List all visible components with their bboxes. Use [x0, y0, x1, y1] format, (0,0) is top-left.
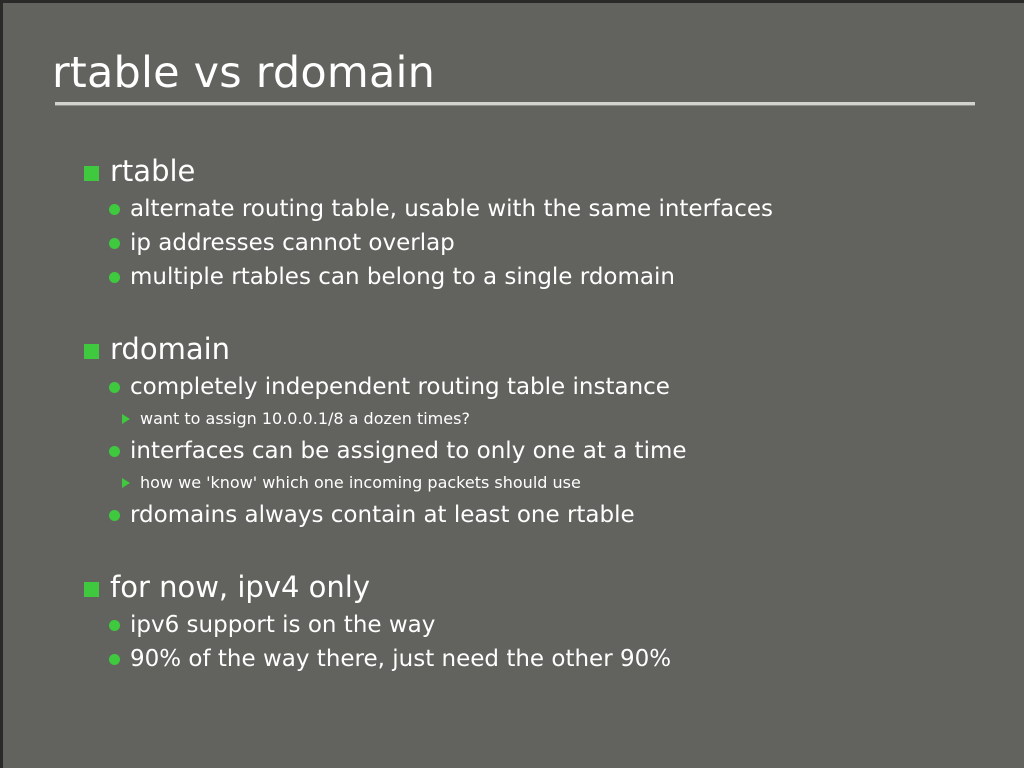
bullet-group-for-now-ipv4-only: for now, ipv4 onlyipv6 support is on the… [3, 567, 1024, 676]
bullet-level2-ipv6-support-is-on-the-way[interactable]: ipv6 support is on the way [3, 608, 1024, 642]
bullet-label: multiple rtables can belong to a single … [130, 260, 675, 294]
title-divider [55, 102, 975, 106]
triangle-bullet-icon [122, 414, 130, 424]
bullet-level2-rdomains-always-contain-at-least-one-rtabl[interactable]: rdomains always contain at least one rta… [3, 498, 1024, 532]
bullet-level1-for-now-ipv4-only[interactable]: for now, ipv4 only [3, 567, 1024, 608]
bullet-label: 90% of the way there, just need the othe… [130, 642, 671, 676]
bullet-label: interfaces can be assigned to only one a… [130, 434, 687, 468]
bullet-label: ip addresses cannot overlap [130, 226, 455, 260]
bullet-label: want to assign 10.0.0.1/8 a dozen times? [140, 404, 470, 434]
circle-bullet-icon [109, 654, 120, 665]
circle-bullet-icon [109, 510, 120, 521]
bullet-level2-multiple-rtables-can-belong-to-a-single-rd[interactable]: multiple rtables can belong to a single … [3, 260, 1024, 294]
bullet-label: rdomain [110, 329, 230, 370]
triangle-bullet-icon [122, 478, 130, 488]
bullet-level1-rtable[interactable]: rtable [3, 151, 1024, 192]
bullet-level3-how-we-know-which-one-incoming-packets-sho[interactable]: how we 'know' which one incoming packets… [3, 468, 1024, 498]
circle-bullet-icon [109, 238, 120, 249]
circle-bullet-icon [109, 382, 120, 393]
bullet-label: how we 'know' which one incoming packets… [140, 468, 581, 498]
bullet-label: for now, ipv4 only [110, 567, 370, 608]
square-bullet-icon [84, 582, 99, 597]
bullet-level2-completely-independent-routing-table-insta[interactable]: completely independent routing table ins… [3, 370, 1024, 404]
circle-bullet-icon [109, 620, 120, 631]
circle-bullet-icon [109, 272, 120, 283]
bullet-label: ipv6 support is on the way [130, 608, 435, 642]
bullet-level2-90-of-the-way-there-just-need-the-other-90[interactable]: 90% of the way there, just need the othe… [3, 642, 1024, 676]
bullet-label: alternate routing table, usable with the… [130, 192, 773, 226]
square-bullet-icon [84, 344, 99, 359]
page-title: rtable vs rdomain [52, 47, 972, 99]
bullet-level1-rdomain[interactable]: rdomain [3, 329, 1024, 370]
slide-body: rtablealternate routing table, usable wi… [3, 151, 1024, 676]
bullet-group-rdomain: rdomaincompletely independent routing ta… [3, 329, 1024, 532]
bullet-label: rtable [110, 151, 195, 192]
bullet-level2-interfaces-can-be-assigned-to-only-one-at-[interactable]: interfaces can be assigned to only one a… [3, 434, 1024, 468]
bullet-level2-alternate-routing-table-usable-with-the-sa[interactable]: alternate routing table, usable with the… [3, 192, 1024, 226]
bullet-group-rtable: rtablealternate routing table, usable wi… [3, 151, 1024, 294]
presentation-slide: rtable vs rdomain rtablealternate routin… [3, 3, 1024, 768]
bullet-label: rdomains always contain at least one rta… [130, 498, 635, 532]
circle-bullet-icon [109, 204, 120, 215]
circle-bullet-icon [109, 446, 120, 457]
square-bullet-icon [84, 166, 99, 181]
slide-title-block: rtable vs rdomain [52, 47, 972, 99]
bullet-level3-want-to-assign-10-0-0-1-8-a-dozen-times[interactable]: want to assign 10.0.0.1/8 a dozen times? [3, 404, 1024, 434]
bullet-label: completely independent routing table ins… [130, 370, 670, 404]
bullet-level2-ip-addresses-cannot-overlap[interactable]: ip addresses cannot overlap [3, 226, 1024, 260]
